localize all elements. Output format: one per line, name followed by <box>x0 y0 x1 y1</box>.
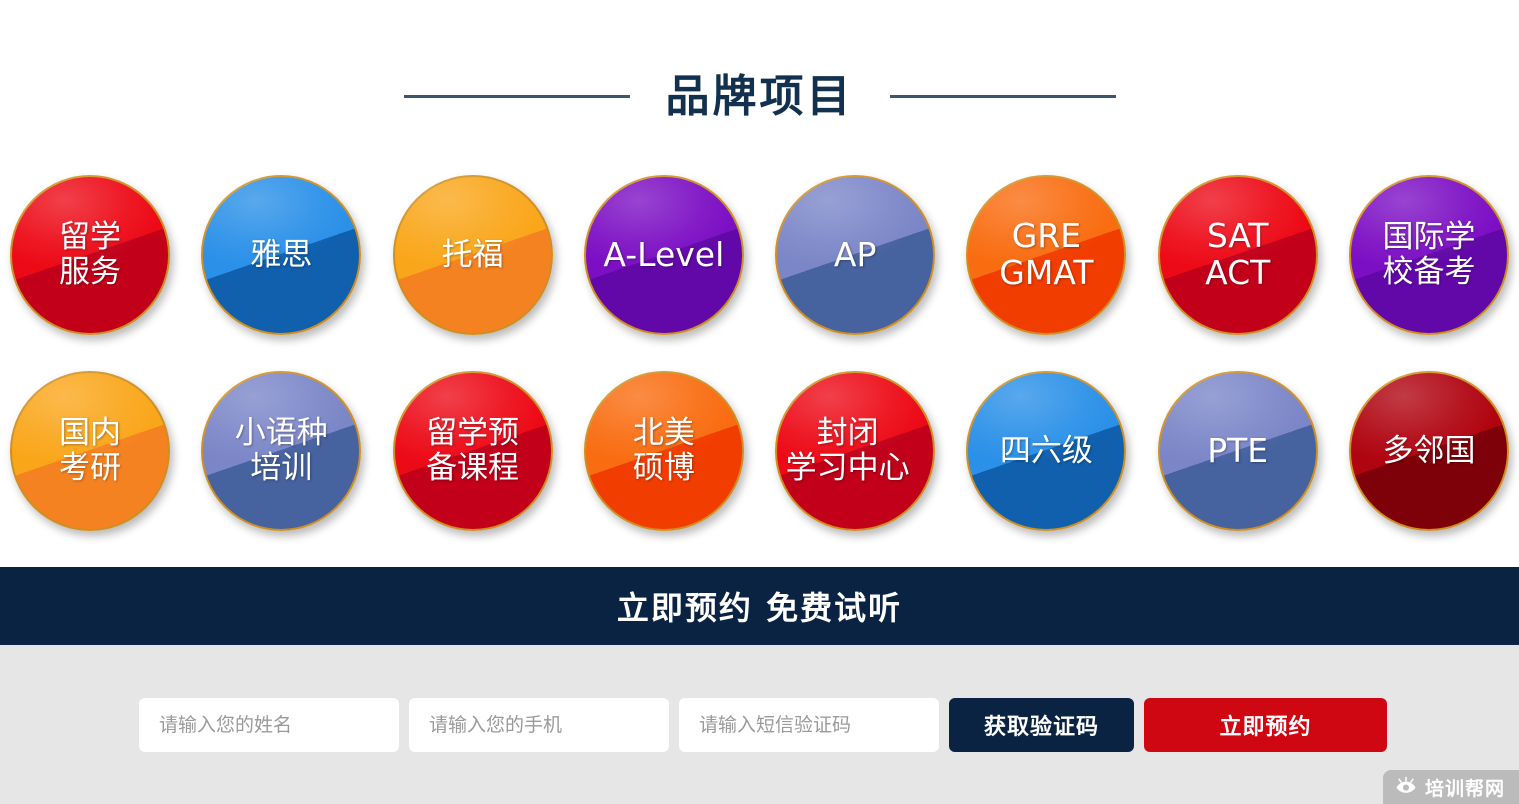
program-label: A-Level <box>603 237 724 274</box>
program-cell: AP <box>775 175 935 335</box>
program-circle[interactable]: SAT ACT <box>1158 175 1318 335</box>
program-circle[interactable]: 留学预 备课程 <box>393 371 553 531</box>
submit-appointment-button[interactable]: 立即预约 <box>1144 698 1387 752</box>
program-circle-grid: 留学 服务雅思托福A-LevelAPGRE GMATSAT ACT国际学 校备考… <box>0 175 1519 567</box>
phone-input[interactable] <box>409 698 669 752</box>
program-circle[interactable]: 雅思 <box>201 175 361 335</box>
program-circle[interactable]: GRE GMAT <box>966 175 1126 335</box>
circle-gloss-highlight <box>201 175 361 335</box>
program-cell: 国内 考研 <box>10 371 170 531</box>
circle-gloss-highlight <box>584 371 744 531</box>
cta-banner: 立即预约 免费试听 <box>0 567 1519 645</box>
program-cell: 封闭 学习中心 <box>775 371 935 531</box>
program-label: 多邻国 <box>1382 434 1475 469</box>
program-label: 封闭 学习中心 <box>762 416 933 485</box>
program-circle[interactable]: 四六级 <box>966 371 1126 531</box>
circle-gloss-highlight <box>10 371 170 531</box>
program-cell: PTE <box>1158 371 1318 531</box>
program-label: 留学 服务 <box>59 220 121 289</box>
program-label: 国际学 校备考 <box>1382 220 1475 289</box>
site-watermark: 培训帮网 <box>1383 770 1519 804</box>
appointment-form: 获取验证码 立即预约 <box>0 645 1519 804</box>
program-row-2: 国内 考研小语种 培训留学预 备课程北美 硕博封闭 学习中心四六级PTE多邻国 <box>10 371 1509 567</box>
program-cell: 托福 <box>393 175 553 335</box>
program-circle[interactable]: 国际学 校备考 <box>1349 175 1509 335</box>
program-cell: 四六级 <box>966 371 1126 531</box>
circle-gloss-highlight <box>393 175 553 335</box>
program-circle[interactable]: 封闭 学习中心 <box>775 371 935 531</box>
program-label: 雅思 <box>250 238 312 273</box>
circle-gloss-highlight <box>393 371 553 531</box>
circle-gloss-highlight <box>966 371 1126 531</box>
program-label: GRE GMAT <box>999 218 1093 292</box>
circle-gloss-highlight <box>10 175 170 335</box>
program-cell: SAT ACT <box>1158 175 1318 335</box>
program-cell: 雅思 <box>201 175 361 335</box>
circle-gloss-highlight <box>1349 371 1509 531</box>
circle-gloss-highlight <box>1158 175 1318 335</box>
program-label: 托福 <box>442 238 504 273</box>
program-label: SAT ACT <box>1205 218 1270 292</box>
page-title: 品牌项目 <box>666 75 854 119</box>
program-circle[interactable]: 国内 考研 <box>10 371 170 531</box>
program-label: AP <box>834 237 876 274</box>
circle-gloss-highlight <box>1349 175 1509 335</box>
title-rule-left <box>404 95 630 98</box>
section-header: 品牌项目 <box>0 0 1519 175</box>
program-cell: 留学预 备课程 <box>393 371 553 531</box>
program-cell: GRE GMAT <box>966 175 1126 335</box>
name-input[interactable] <box>139 698 399 752</box>
program-label: 留学预 备课程 <box>426 416 519 485</box>
program-label: PTE <box>1207 433 1268 470</box>
circle-gloss-highlight <box>966 175 1126 335</box>
program-circle[interactable]: 小语种 培训 <box>201 371 361 531</box>
program-cell: 小语种 培训 <box>201 371 361 531</box>
program-cell: 北美 硕博 <box>584 371 744 531</box>
program-label: 北美 硕博 <box>633 416 695 485</box>
program-circle[interactable]: PTE <box>1158 371 1318 531</box>
circle-gloss-highlight <box>584 175 744 335</box>
cta-banner-text: 立即预约 免费试听 <box>617 583 902 629</box>
program-label: 国内 考研 <box>59 416 121 485</box>
circle-gloss-highlight <box>201 371 361 531</box>
program-label: 四六级 <box>1000 434 1093 469</box>
title-rule-right <box>890 95 1116 98</box>
watermark-label: 培训帮网 <box>1425 774 1505 801</box>
circle-gloss-highlight <box>775 175 935 335</box>
program-cell: 国际学 校备考 <box>1349 175 1509 335</box>
program-circle[interactable]: AP <box>775 175 935 335</box>
circle-gloss-highlight <box>775 371 935 531</box>
sms-code-input[interactable] <box>679 698 939 752</box>
program-circle[interactable]: 托福 <box>393 175 553 335</box>
program-circle[interactable]: 留学 服务 <box>10 175 170 335</box>
eye-icon <box>1395 776 1417 798</box>
program-cell: 多邻国 <box>1349 371 1509 531</box>
program-row-1: 留学 服务雅思托福A-LevelAPGRE GMATSAT ACT国际学 校备考 <box>10 175 1509 371</box>
program-cell: A-Level <box>584 175 744 335</box>
program-circle[interactable]: 北美 硕博 <box>584 371 744 531</box>
program-label: 小语种 培训 <box>235 416 328 485</box>
program-cell: 留学 服务 <box>10 175 170 335</box>
program-circle[interactable]: 多邻国 <box>1349 371 1509 531</box>
program-circle[interactable]: A-Level <box>584 175 744 335</box>
get-verification-code-button[interactable]: 获取验证码 <box>949 698 1134 752</box>
circle-gloss-highlight <box>1158 371 1318 531</box>
